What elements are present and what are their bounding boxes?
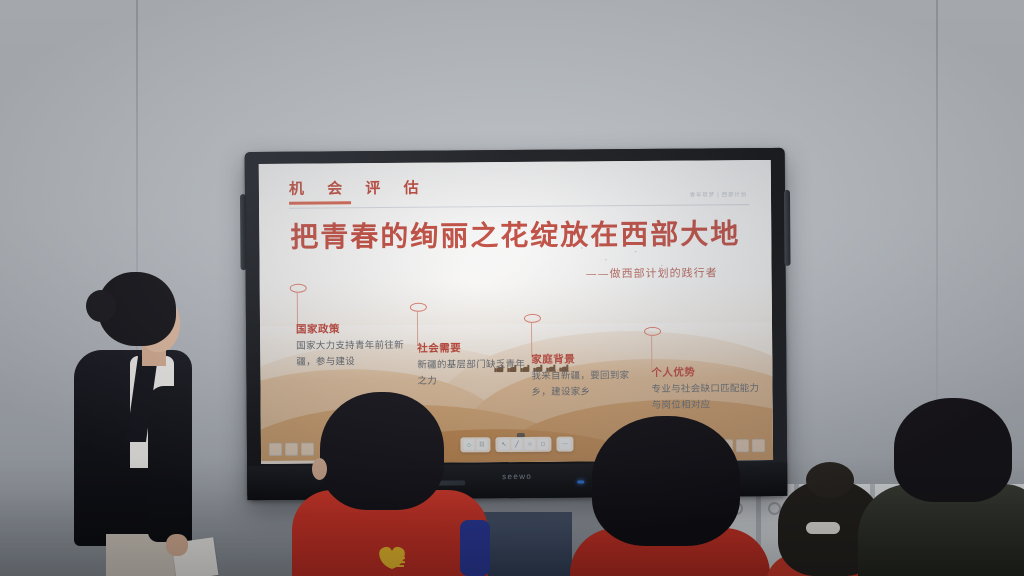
classroom-scene: ⸱ ⸱ ⸱ ⸱ 机 会 评 估 青年筑梦 | 西部计划 把青春的绚丽之花绽放在西…: [0, 0, 1024, 576]
scene-vignette: [0, 0, 1024, 576]
